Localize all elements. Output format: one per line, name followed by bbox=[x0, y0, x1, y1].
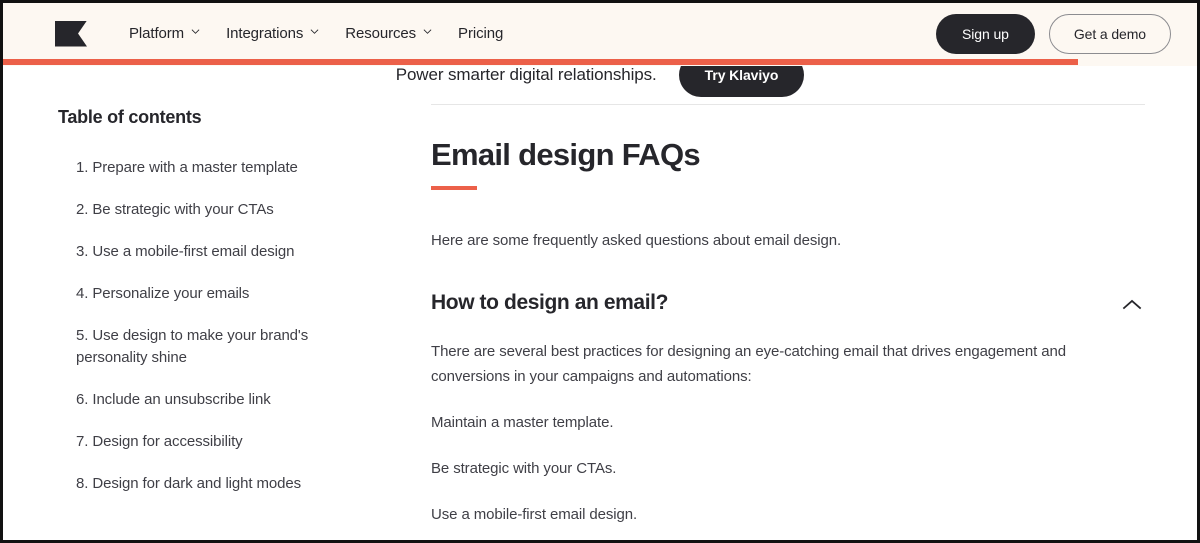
header-actions: Sign up Get a demo bbox=[936, 14, 1171, 54]
nav-item-platform-label: Platform bbox=[129, 26, 184, 41]
nav-item-integrations[interactable]: Integrations bbox=[226, 26, 319, 41]
table-of-contents-list: 1. Prepare with a master template 2. Be … bbox=[58, 157, 365, 495]
chevron-down-icon bbox=[423, 27, 432, 36]
faq-intro-text: Here are some frequently asked questions… bbox=[431, 232, 1145, 249]
nav-item-pricing[interactable]: Pricing bbox=[458, 26, 503, 41]
faq-answer-bullet: Maintain a master template. bbox=[431, 410, 1145, 435]
title-accent-underline bbox=[431, 186, 477, 190]
toc-item[interactable]: 2. Be strategic with your CTAs bbox=[58, 199, 365, 221]
sign-up-button[interactable]: Sign up bbox=[936, 14, 1035, 54]
primary-navigation: Platform Integrations Resources bbox=[129, 26, 503, 41]
faq-question: How to design an email? bbox=[431, 290, 668, 315]
toc-item[interactable]: 5. Use design to make your brand's perso… bbox=[58, 325, 365, 369]
toc-item[interactable]: 4. Personalize your emails bbox=[58, 283, 365, 305]
faq-accordion-header[interactable]: How to design an email? bbox=[431, 290, 1145, 318]
faq-answer: There are several best practices for des… bbox=[431, 339, 1145, 543]
faq-answer-paragraph: There are several best practices for des… bbox=[431, 339, 1091, 389]
section-divider bbox=[431, 104, 1145, 105]
nav-item-resources[interactable]: Resources bbox=[345, 26, 432, 41]
toc-item[interactable]: 6. Include an unsubscribe link bbox=[58, 389, 365, 411]
browser-viewport: Power smarter digital relationships. Try… bbox=[0, 0, 1200, 543]
table-of-contents-title: Table of contents bbox=[58, 107, 365, 128]
toc-item[interactable]: 3. Use a mobile-first email design bbox=[58, 241, 365, 263]
nav-item-platform[interactable]: Platform bbox=[129, 26, 200, 41]
faq-answer-bullet: Be strategic with your CTAs. bbox=[431, 456, 1145, 481]
get-a-demo-button[interactable]: Get a demo bbox=[1049, 14, 1171, 54]
toc-item[interactable]: 8. Design for dark and light modes bbox=[58, 473, 365, 495]
faq-entry: How to design an email? There are severa… bbox=[431, 290, 1145, 543]
article-content: Email design FAQs Here are some frequent… bbox=[399, 101, 1197, 540]
chevron-up-icon[interactable] bbox=[1119, 292, 1145, 318]
chevron-down-icon bbox=[310, 27, 319, 36]
page-title: Email design FAQs bbox=[431, 138, 1145, 172]
reading-progress-bar bbox=[3, 59, 1197, 65]
table-of-contents: Table of contents 1. Prepare with a mast… bbox=[3, 101, 399, 540]
nav-item-pricing-label: Pricing bbox=[458, 26, 503, 41]
faq-answer-bullet: Use a mobile-first email design. bbox=[431, 502, 1145, 527]
nav-item-integrations-label: Integrations bbox=[226, 26, 303, 41]
promo-banner-text: Power smarter digital relationships. bbox=[396, 65, 657, 85]
header-inner: Platform Integrations Resources bbox=[3, 3, 1197, 64]
chevron-down-icon bbox=[191, 27, 200, 36]
page-body: Table of contents 1. Prepare with a mast… bbox=[3, 101, 1197, 540]
site-header: Platform Integrations Resources bbox=[3, 3, 1197, 66]
reading-progress-fill bbox=[3, 59, 1078, 65]
toc-item[interactable]: 1. Prepare with a master template bbox=[58, 157, 365, 179]
klaviyo-logo[interactable] bbox=[55, 21, 87, 47]
toc-item[interactable]: 7. Design for accessibility bbox=[58, 431, 365, 453]
nav-item-resources-label: Resources bbox=[345, 26, 416, 41]
